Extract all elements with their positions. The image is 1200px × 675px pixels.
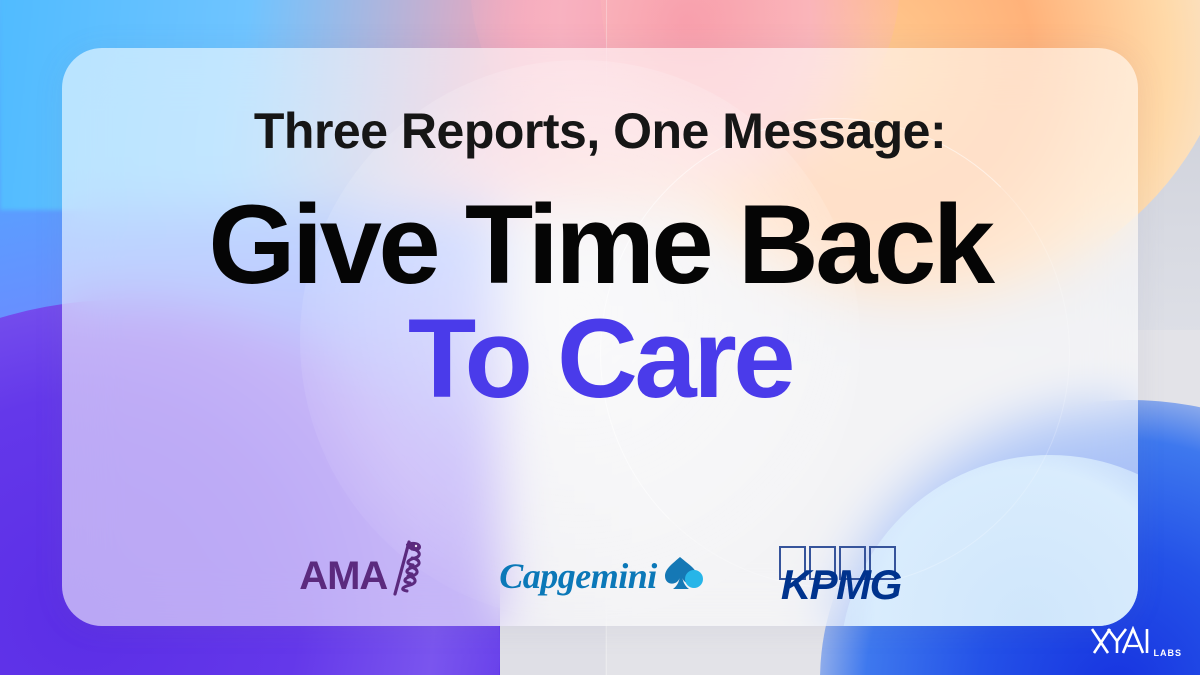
xyai-labs-suffix: LABS <box>1154 648 1183 658</box>
logo-kpmg: KPMG <box>779 546 901 606</box>
logo-capgemini: Capgemini <box>499 553 705 600</box>
eyebrow-text: Three Reports, One Message: <box>254 106 946 156</box>
xyai-monogram-icon <box>1090 626 1152 661</box>
headline-line-2-accent: To Care <box>408 304 792 414</box>
capgemini-spade-icon <box>663 555 705 600</box>
caduceus-icon <box>379 538 425 601</box>
xyai-labs-watermark: LABS <box>1090 626 1183 661</box>
headline-line-1: Give Time Back <box>208 190 991 300</box>
glass-card: Three Reports, One Message: Give Time Ba… <box>62 48 1138 626</box>
ama-wordmark: AMA <box>299 556 387 596</box>
partner-logo-row: AMA Capgemini <box>62 546 1138 606</box>
capgemini-wordmark: Capgemini <box>499 558 657 594</box>
logo-ama: AMA <box>299 552 425 601</box>
kpmg-wordmark: KPMG <box>781 564 901 606</box>
card-content: Three Reports, One Message: Give Time Ba… <box>62 48 1138 626</box>
